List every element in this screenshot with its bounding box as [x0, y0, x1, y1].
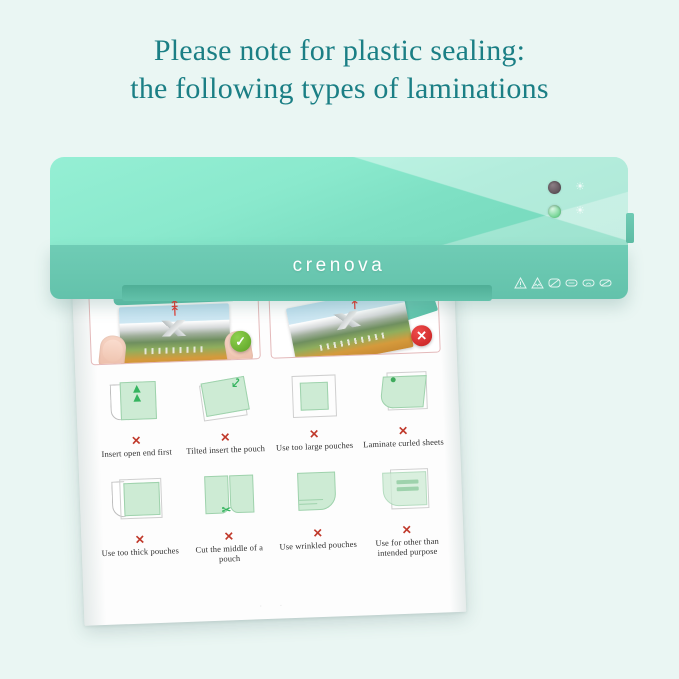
pouch-cut-icon: ✂	[189, 468, 265, 529]
warning-triangle-icon	[514, 277, 527, 289]
grid-item: ✕ Use too large pouches	[267, 366, 359, 454]
laminator-machine: ☀ ☀	[50, 157, 628, 299]
grid-item-caption: Insert open end first	[95, 447, 179, 460]
forbidden-mark: ✕	[309, 428, 319, 440]
grid-item: ✂ ✕ Cut the middle of a pouch	[182, 468, 274, 566]
grid-item: ✕ Use for other than intended purpose	[360, 461, 452, 559]
left-hand	[98, 334, 127, 364]
grid-item: ▲ ▲ ✕ Insert open end first	[89, 372, 181, 460]
chevron-up-icon: ⤒	[352, 301, 358, 308]
indicator-panel: ☀ ☀	[548, 181, 606, 229]
grid-item-caption: Tilted insert the pouch	[184, 444, 268, 457]
prohibited-actions-grid: ▲ ▲ ✕ Insert open end first ⤦ ✕ Tilted i…	[89, 362, 452, 569]
read-manual-icon	[565, 277, 578, 289]
infographic-canvas: Please note for plastic sealing: the fol…	[0, 0, 679, 679]
grid-item-caption: Cut the middle of a pouch	[187, 543, 272, 566]
forbidden-mark: ✕	[398, 425, 408, 437]
pouch-oversize-icon	[275, 366, 351, 427]
pouch-open-end-icon: ▲ ▲	[97, 372, 173, 433]
grid-item-caption: Use too thick pouches	[98, 546, 182, 559]
pouch-tilted-icon: ⤦	[186, 369, 262, 430]
grid-item-caption: Use for other than intended purpose	[365, 536, 450, 559]
forbidden-mark: ✕	[131, 435, 141, 447]
forbidden-mark: ✕	[224, 530, 234, 542]
power-led[interactable]	[548, 181, 561, 194]
machine-side-vent	[626, 213, 634, 243]
forbidden-mark: ✕	[220, 431, 230, 443]
curled-sheet-icon	[364, 363, 440, 424]
no-spray-icon	[599, 277, 612, 289]
pouch-wrinkled-icon	[278, 465, 354, 526]
mountain-shape	[119, 318, 230, 338]
instruction-sheet: ⤒ ⤒ ⤒ ✓ ⤒	[72, 274, 466, 626]
pouch-other-use-icon	[367, 462, 443, 523]
power-light-icon: ☀	[574, 181, 586, 193]
brand-logo: crenova	[50, 255, 628, 277]
output-slot	[122, 285, 492, 301]
chevron-up-icon: ▲	[130, 389, 143, 404]
village-shape	[144, 346, 206, 354]
forbidden-mark: ✕	[401, 524, 411, 536]
no-children-icon	[582, 277, 595, 289]
village-shape	[320, 332, 386, 350]
grid-item: ✕ Laminate curled sheets	[356, 362, 448, 450]
grid-item-caption: Use wrinkled pouches	[276, 540, 360, 553]
scissors-icon: ✂	[222, 503, 232, 516]
chevron-up-icon: ⤒	[172, 307, 178, 314]
forbidden-mark: ✕	[135, 534, 145, 546]
page-title: Please note for plastic sealing: the fol…	[0, 32, 679, 108]
grid-item: ✕ Use too thick pouches	[93, 471, 185, 569]
arrow-up-right-icon: ⤦	[232, 375, 240, 391]
pouch-thick-icon	[100, 471, 176, 532]
grid-item-caption: Use too large pouches	[272, 441, 356, 454]
ready-led[interactable]	[548, 205, 561, 218]
grid-item: ⤦ ✕ Tilted insert the pouch	[178, 369, 270, 457]
machine-top-shell	[50, 157, 628, 249]
safety-icon-row	[514, 277, 612, 289]
title-line-1: Please note for plastic sealing:	[154, 34, 525, 67]
hot-surface-triangle-icon	[531, 277, 544, 289]
no-water-icon	[548, 277, 561, 289]
grid-item: ✕ Use wrinkled pouches	[271, 465, 363, 563]
grid-item-caption: Laminate curled sheets	[361, 437, 445, 450]
title-line-2: the following types of laminations	[0, 70, 679, 108]
ready-light-icon: ☀	[574, 205, 586, 217]
forbidden-mark: ✕	[313, 527, 323, 539]
